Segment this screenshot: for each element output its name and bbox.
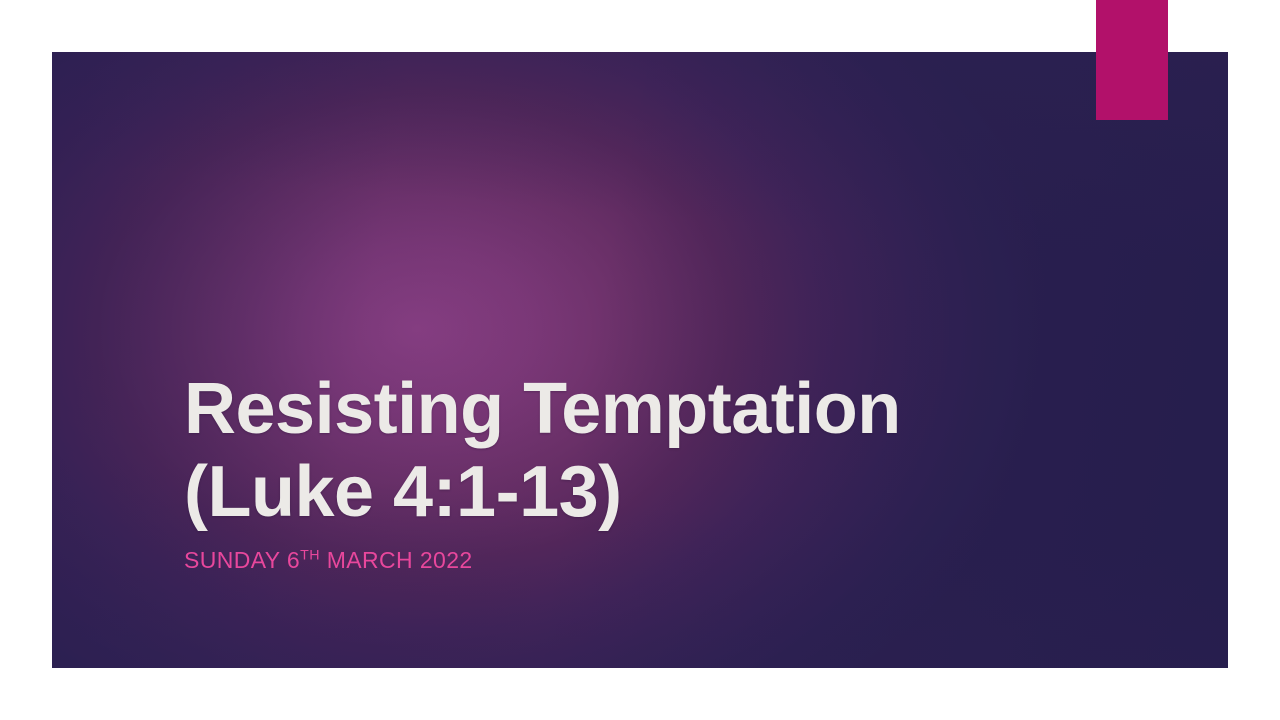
subtitle-ordinal-suffix: TH: [300, 547, 320, 563]
slide-subtitle: SUNDAY 6TH MARCH 2022: [184, 534, 1084, 574]
subtitle-suffix: MARCH 2022: [320, 547, 473, 573]
title-text-block[interactable]: Resisting Temptation (Luke 4:1-13) SUNDA…: [184, 368, 1084, 574]
background-vignette-vertical: [52, 52, 1228, 668]
subtitle-prefix: SUNDAY 6: [184, 547, 300, 573]
slide-background: Resisting Temptation (Luke 4:1-13) SUNDA…: [52, 52, 1228, 668]
accent-rectangle: [1096, 0, 1168, 120]
slide-canvas: Resisting Temptation (Luke 4:1-13) SUNDA…: [0, 0, 1280, 720]
slide-title: Resisting Temptation (Luke 4:1-13): [184, 368, 1084, 534]
